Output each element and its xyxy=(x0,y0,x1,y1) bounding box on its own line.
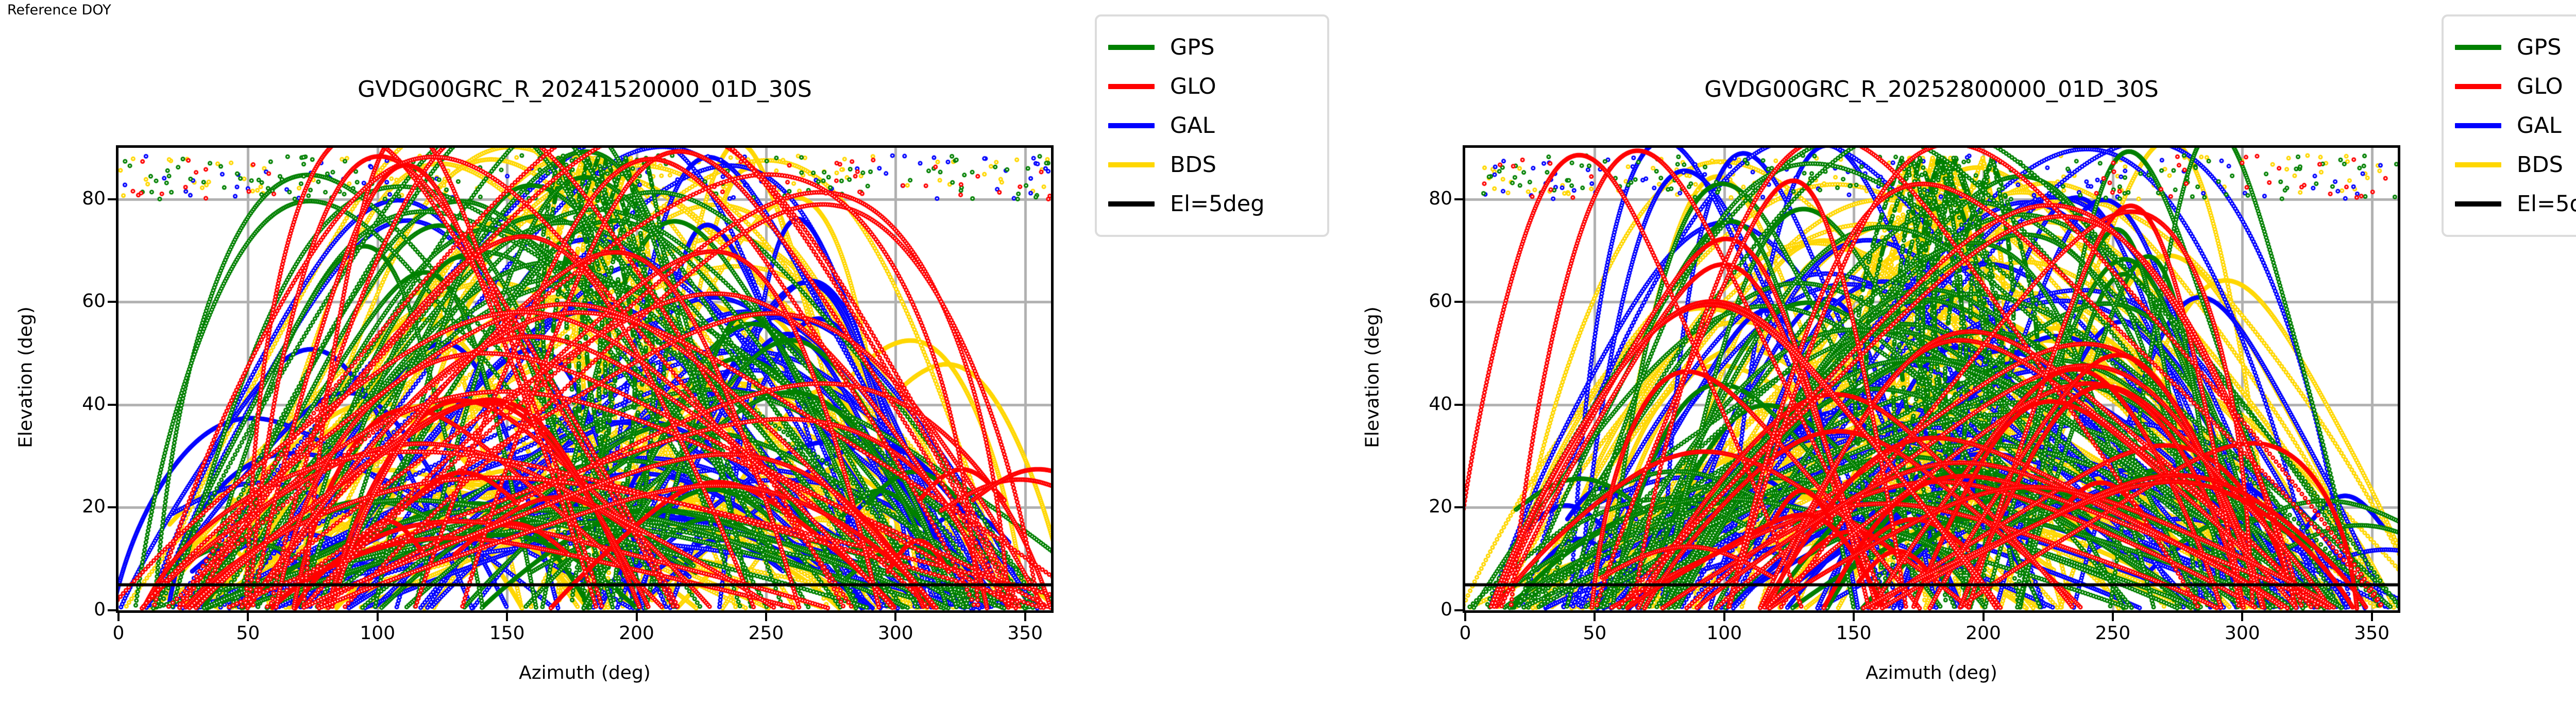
x-tick-label: 50 xyxy=(212,624,284,643)
y-tick-mark xyxy=(1454,301,1463,303)
legend-item-label: GPS xyxy=(1170,37,1215,59)
plot-area-right[interactable] xyxy=(1463,145,2400,613)
x-tick-mark xyxy=(117,613,120,621)
x-tick-mark xyxy=(1594,613,1596,621)
legend-swatch-icon xyxy=(1108,123,1155,128)
x-tick-mark xyxy=(894,613,896,621)
x-tick-label: 150 xyxy=(1818,624,1890,643)
y-tick-label: 80 xyxy=(59,190,106,208)
legend-item-glo[interactable]: GLO xyxy=(2455,67,2576,106)
chart-title-left: GVDG00GRC_R_20241520000_01D_30S xyxy=(116,78,1054,101)
x-tick-label: 300 xyxy=(2206,624,2278,643)
x-tick-label: 50 xyxy=(1558,624,1631,643)
legend-swatch-icon xyxy=(1108,84,1155,89)
y-tick-label: 80 xyxy=(1406,190,1452,208)
legend-item-el-5deg[interactable]: El=5deg xyxy=(1108,184,1314,224)
x-tick-mark xyxy=(1853,613,1855,621)
legend-item-label: BDS xyxy=(1170,154,1216,176)
y-tick-mark xyxy=(1454,198,1463,200)
x-tick-label: 200 xyxy=(601,624,673,643)
y-tick-label: 20 xyxy=(59,498,106,516)
legend-item-label: BDS xyxy=(2517,154,2563,176)
legend-item-label: GPS xyxy=(2517,37,2562,59)
y-tick-mark xyxy=(1454,506,1463,508)
legend-item-bds[interactable]: BDS xyxy=(2455,145,2576,184)
x-tick-mark xyxy=(2241,613,2243,621)
legend-item-bds[interactable]: BDS xyxy=(1108,145,1314,184)
x-tick-label: 350 xyxy=(989,624,1061,643)
y-tick-mark xyxy=(1454,404,1463,406)
y-tick-mark xyxy=(108,609,116,611)
legend-swatch-icon xyxy=(2455,201,2501,207)
x-tick-mark xyxy=(765,613,767,621)
y-tick-mark xyxy=(1454,609,1463,611)
y-tick-mark xyxy=(108,198,116,200)
legend-right[interactable]: GPSGLOGALBDSEl=5deg xyxy=(2442,14,2576,237)
legend-item-label: El=5deg xyxy=(1170,193,1265,215)
legend-item-label: El=5deg xyxy=(2517,193,2576,215)
x-tick-label: 250 xyxy=(2077,624,2149,643)
y-tick-label: 40 xyxy=(1406,395,1452,414)
legend-item-label: GAL xyxy=(1170,115,1215,137)
x-tick-label: 150 xyxy=(471,624,543,643)
legend-swatch-icon xyxy=(2455,123,2501,128)
x-tick-label: 300 xyxy=(859,624,931,643)
x-tick-mark xyxy=(1464,613,1466,621)
y-axis-label-right: Elevation (deg) xyxy=(1362,144,1383,611)
x-axis-label-left: Azimuth (deg) xyxy=(116,662,1054,683)
y-tick-label: 40 xyxy=(59,395,106,414)
x-tick-mark xyxy=(1024,613,1026,621)
x-tick-mark xyxy=(2112,613,2114,621)
legend-item-gal[interactable]: GAL xyxy=(1108,106,1314,145)
x-tick-mark xyxy=(247,613,249,621)
x-tick-mark xyxy=(1982,613,1985,621)
skyplot-canvas-right xyxy=(1465,148,2398,610)
legend-item-el-5deg[interactable]: El=5deg xyxy=(2455,184,2576,224)
x-tick-label: 350 xyxy=(2336,624,2408,643)
legend-swatch-icon xyxy=(2455,84,2501,89)
x-tick-label: 100 xyxy=(342,624,414,643)
x-tick-mark xyxy=(636,613,638,621)
y-axis-label-left: Elevation (deg) xyxy=(15,144,37,611)
x-tick-label: 250 xyxy=(730,624,802,643)
y-tick-label: 0 xyxy=(1406,601,1452,619)
legend-item-gps[interactable]: GPS xyxy=(1108,28,1314,67)
x-tick-mark xyxy=(2371,613,2373,621)
x-tick-label: 0 xyxy=(82,624,155,643)
legend-item-label: GLO xyxy=(1170,76,1216,98)
y-tick-mark xyxy=(108,301,116,303)
skyplot-panel-left: GVDG00GRC_R_20241520000_01D_30S Elevatio… xyxy=(0,0,1347,720)
legend-left[interactable]: GPSGLOGALBDSEl=5deg xyxy=(1095,14,1329,237)
x-tick-label: 0 xyxy=(1429,624,1501,643)
y-tick-label: 60 xyxy=(59,292,106,311)
legend-swatch-icon xyxy=(1108,45,1155,50)
y-tick-label: 0 xyxy=(59,601,106,619)
x-axis-label-right: Azimuth (deg) xyxy=(1463,662,2400,683)
chart-title-right: GVDG00GRC_R_20252800000_01D_30S xyxy=(1463,78,2400,101)
x-tick-mark xyxy=(506,613,508,621)
legend-item-gal[interactable]: GAL xyxy=(2455,106,2576,145)
x-tick-label: 100 xyxy=(1688,624,1760,643)
y-tick-mark xyxy=(108,506,116,508)
legend-item-glo[interactable]: GLO xyxy=(1108,67,1314,106)
plot-area-left[interactable] xyxy=(116,145,1054,613)
x-tick-mark xyxy=(1723,613,1725,621)
legend-item-label: GLO xyxy=(2517,76,2563,98)
skyplot-panel-right: GVDG00GRC_R_20252800000_01D_30S Elevatio… xyxy=(1347,0,2576,720)
y-tick-label: 20 xyxy=(1406,498,1452,516)
y-tick-label: 60 xyxy=(1406,292,1452,311)
legend-swatch-icon xyxy=(2455,162,2501,167)
skyplot-canvas-left xyxy=(118,148,1051,610)
legend-item-gps[interactable]: GPS xyxy=(2455,28,2576,67)
legend-item-label: GAL xyxy=(2517,115,2562,137)
legend-swatch-icon xyxy=(2455,45,2501,50)
x-tick-label: 200 xyxy=(1947,624,2020,643)
legend-swatch-icon xyxy=(1108,201,1155,207)
x-tick-mark xyxy=(377,613,379,621)
legend-swatch-icon xyxy=(1108,162,1155,167)
y-tick-mark xyxy=(108,404,116,406)
